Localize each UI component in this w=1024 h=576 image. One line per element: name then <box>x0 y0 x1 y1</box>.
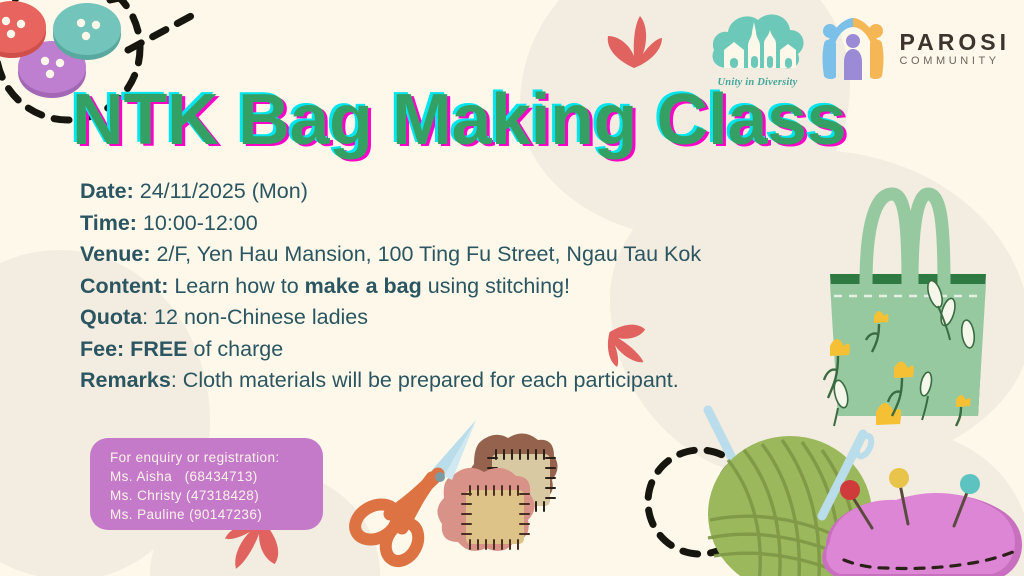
info-value-content-emphasis: make a bag <box>305 274 422 298</box>
yarn-and-pincushion-illustration <box>648 424 1024 576</box>
scissors-and-patches-illustration <box>352 414 597 576</box>
parosi-figures-icon <box>820 14 886 84</box>
contact-heading: For enquiry or registration: <box>110 448 323 467</box>
info-row-fee: Fee: FREE of charge <box>80 334 850 366</box>
contact-person-pauline: Ms. Pauline (90147236) <box>110 505 323 524</box>
poster-canvas: Unity in Diversity PAROSI COMMUNITY NTK … <box>0 0 1024 576</box>
leaf-decoration <box>604 14 664 70</box>
info-label-remarks: Remarks <box>80 368 171 392</box>
red-pin-head <box>840 480 860 500</box>
parosi-name: PAROSI <box>900 30 1010 54</box>
info-value-time: 10:00-12:00 <box>137 211 258 235</box>
info-value-quota: : 12 non-Chinese ladies <box>142 305 368 329</box>
parosi-wordmark: PAROSI COMMUNITY <box>900 18 1010 80</box>
info-value-remarks: : Cloth materials will be prepared for e… <box>171 368 679 392</box>
info-row-time: Time: 10:00-12:00 <box>80 208 850 240</box>
info-value-fee: of charge <box>188 337 284 361</box>
info-label-date: Date: <box>80 179 134 203</box>
poster-title: NTK Bag Making Class <box>72 82 846 158</box>
info-label-fee: Fee: FREE <box>80 337 188 361</box>
teal-pin-head <box>960 474 980 494</box>
info-value-content-tail: using stitching! <box>422 274 570 298</box>
info-row-date: Date: 24/11/2025 (Mon) <box>80 176 850 208</box>
info-label-time: Time: <box>80 211 137 235</box>
parosi-subtitle: COMMUNITY <box>900 54 1010 68</box>
info-row-content: Content: Learn how to make a bag using s… <box>80 271 850 303</box>
info-row-quota: Quota: 12 non-Chinese ladies <box>80 302 850 334</box>
contact-card: For enquiry or registration: Ms. Aisha (… <box>90 438 323 530</box>
tote-bag-illustration <box>808 188 1008 428</box>
bag-handles <box>866 194 944 284</box>
info-value-venue: 2/F, Yen Hau Mansion, 100 Ting Fu Street… <box>151 242 702 266</box>
title-area: NTK Bag Making Class <box>72 82 972 158</box>
teal-button <box>53 3 121 60</box>
contact-person-aisha: Ms. Aisha (68434713) <box>110 467 323 486</box>
contact-person-christy: Ms. Christy (47318428) <box>110 486 323 505</box>
info-label-content: Content: <box>80 274 168 298</box>
info-label-quota: Quota <box>80 305 142 329</box>
logo-group: Unity in Diversity PAROSI COMMUNITY <box>710 8 1010 90</box>
info-label-venue: Venue: <box>80 242 151 266</box>
cloud-skyline-icon <box>710 10 806 76</box>
info-block: Date: 24/11/2025 (Mon) Time: 10:00-12:00… <box>80 176 850 397</box>
unity-in-diversity-logo: Unity in Diversity <box>710 10 806 88</box>
pink-patch <box>437 468 534 551</box>
info-value-content: Learn how to <box>168 274 304 298</box>
info-value-date: 24/11/2025 (Mon) <box>134 179 308 203</box>
info-row-venue: Venue: 2/F, Yen Hau Mansion, 100 Ting Fu… <box>80 239 850 271</box>
info-row-remarks: Remarks: Cloth materials will be prepare… <box>80 365 850 397</box>
yellow-pin-head <box>889 468 909 488</box>
